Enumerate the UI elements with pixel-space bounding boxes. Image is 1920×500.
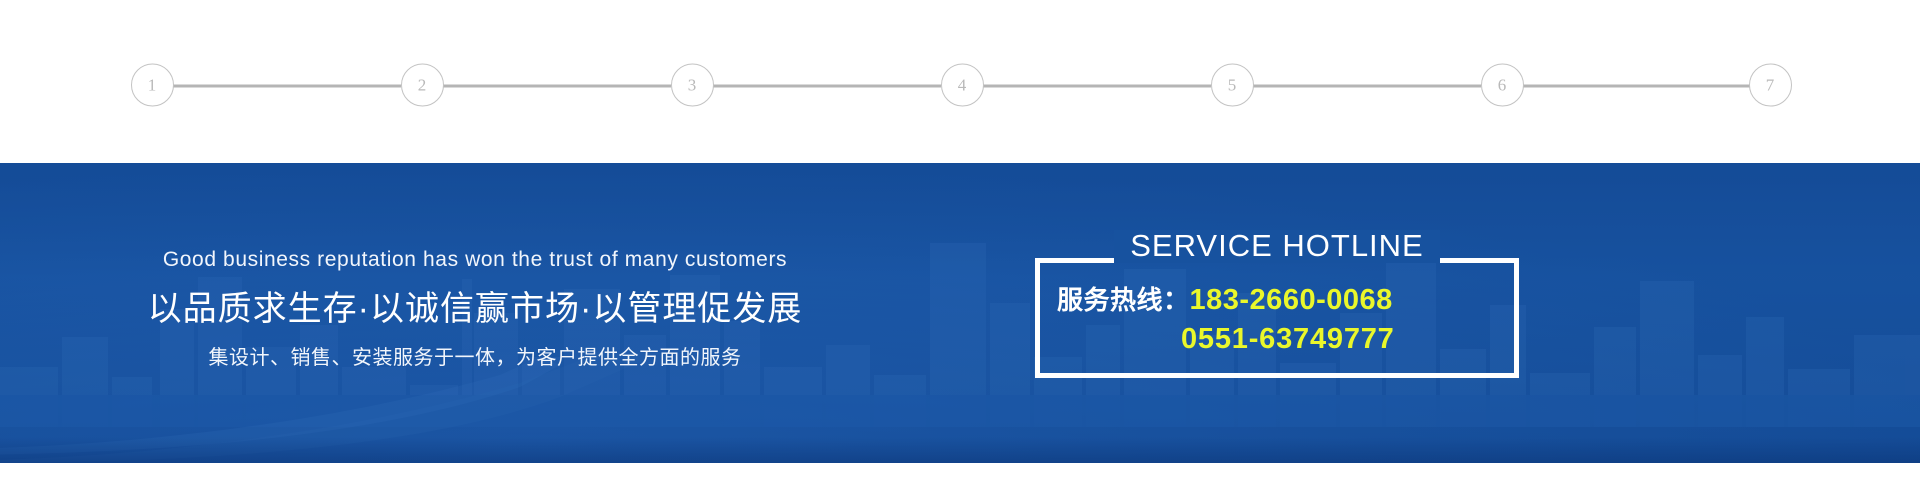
step-node-4[interactable]: 4	[941, 63, 984, 106]
step-node-label: 2	[402, 64, 443, 105]
step-node-2[interactable]: 2	[401, 63, 444, 106]
step-connector-line	[173, 85, 401, 88]
step-node-label: 7	[1750, 64, 1791, 105]
hotline-number-secondary[interactable]: 0551-63749777	[1181, 323, 1395, 356]
step-node-label: 4	[942, 64, 983, 105]
step-connector-line	[983, 85, 1211, 88]
step-node-3[interactable]: 3	[671, 63, 714, 106]
step-connector-line	[713, 85, 941, 88]
hotline-number-primary[interactable]: 183-2660-0068	[1190, 284, 1393, 317]
step-node-6[interactable]: 6	[1481, 63, 1524, 106]
hotline-label: 服务热线：	[1057, 280, 1190, 317]
hotline-rows: 服务热线： 183-2660-0068 0551-63749777	[1035, 280, 1519, 356]
banner-bottom-shadow	[0, 437, 1920, 463]
hotline-row-secondary: 0551-63749777	[1057, 323, 1519, 356]
page-root: 1 2 3 4 5 6 7	[0, 0, 1920, 500]
step-node-label: 1	[132, 64, 173, 105]
hotline-row-primary: 服务热线： 183-2660-0068	[1057, 280, 1519, 317]
step-connector-line	[443, 85, 671, 88]
slogan-headline: 以品质求生存·以诚信赢市场·以管理促发展	[0, 292, 950, 326]
step-node-label: 5	[1212, 64, 1253, 105]
slogan-english-line: Good business reputation has won the tru…	[0, 249, 950, 270]
step-connector-line	[1523, 85, 1751, 88]
step-node-1[interactable]: 1	[131, 63, 174, 106]
slogan-subline: 集设计、销售、安装服务于一体，为客户提供全方面的服务	[0, 348, 950, 368]
service-hotline-box: SERVICE HOTLINE 服务热线： 183-2660-0068 0551…	[1035, 258, 1519, 378]
step-connector-line	[1253, 85, 1481, 88]
step-pagination: 1 2 3 4 5 6 7	[0, 0, 1920, 163]
step-node-label: 3	[672, 64, 713, 105]
step-node-5[interactable]: 5	[1211, 63, 1254, 106]
slogan-block: Good business reputation has won the tru…	[0, 163, 950, 368]
step-node-7[interactable]: 7	[1749, 63, 1792, 106]
step-node-label: 6	[1482, 64, 1523, 105]
